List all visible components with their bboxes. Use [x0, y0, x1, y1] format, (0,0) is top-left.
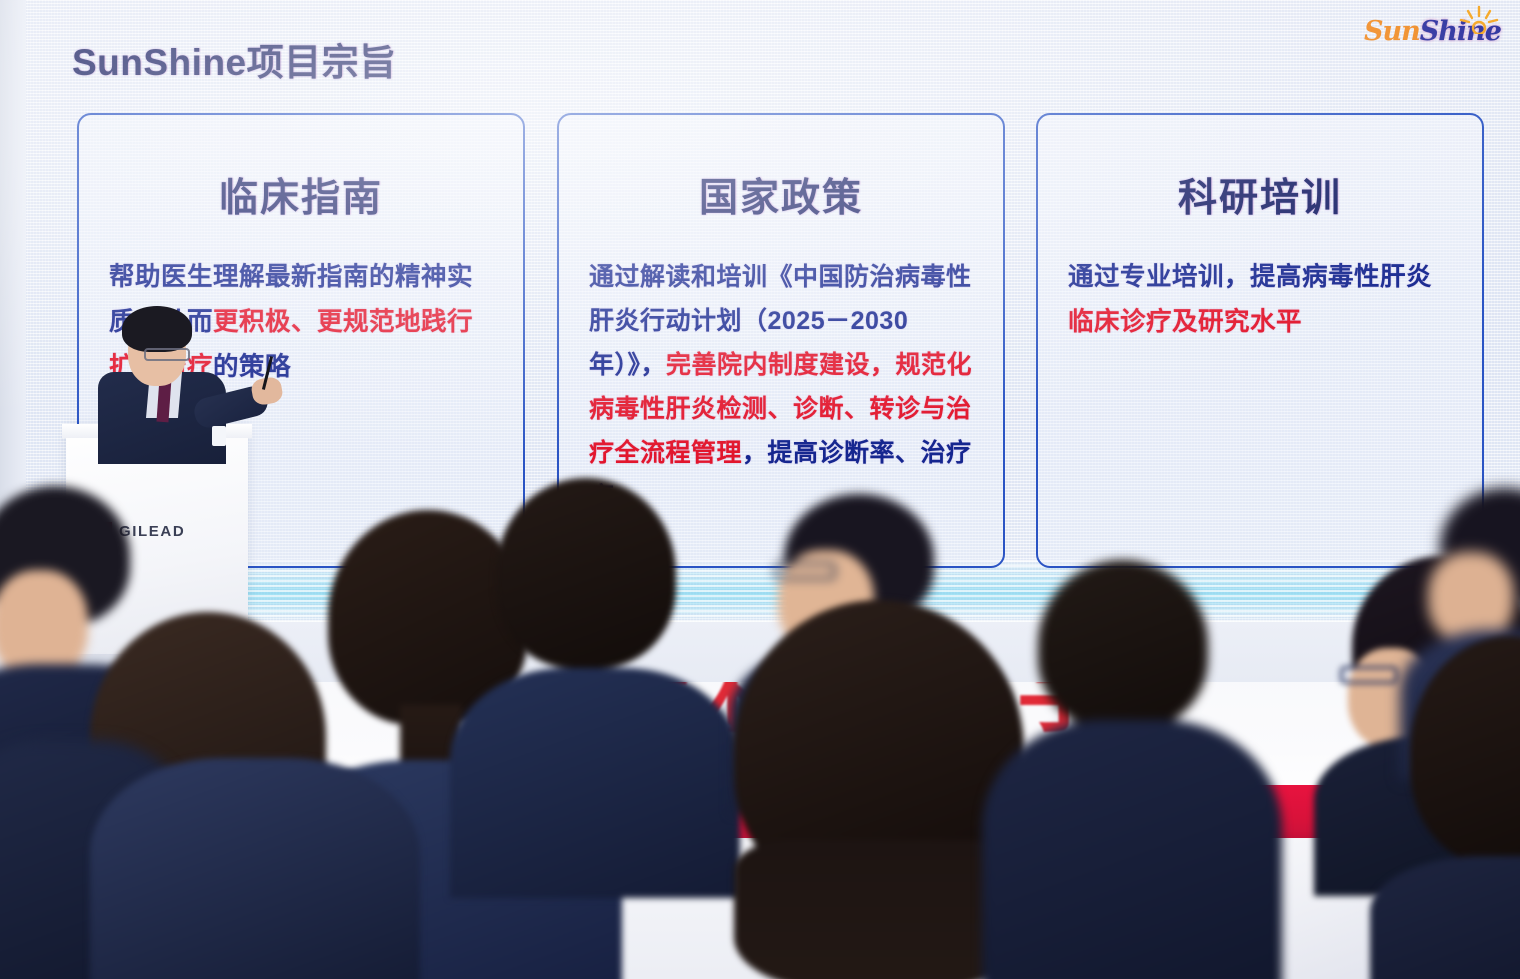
person-torso	[90, 758, 420, 979]
audience-person	[90, 728, 420, 979]
audience-person	[1400, 636, 1520, 979]
audience-person	[1010, 560, 1250, 979]
person-glasses-icon	[774, 562, 836, 580]
audience-foreground	[0, 0, 1520, 979]
audience-person	[470, 478, 720, 878]
person-hair	[496, 478, 676, 668]
photo-scene: 吉利德科学 造一个⋯⋯界 SunShine项目宗旨 SunShine	[0, 0, 1520, 979]
person-hair	[1410, 636, 1520, 866]
person-glasses-icon	[1340, 666, 1398, 684]
person-hair-length	[734, 840, 1024, 979]
person-torso	[450, 668, 740, 898]
person-hair	[1038, 560, 1208, 730]
person-torso	[982, 720, 1282, 979]
